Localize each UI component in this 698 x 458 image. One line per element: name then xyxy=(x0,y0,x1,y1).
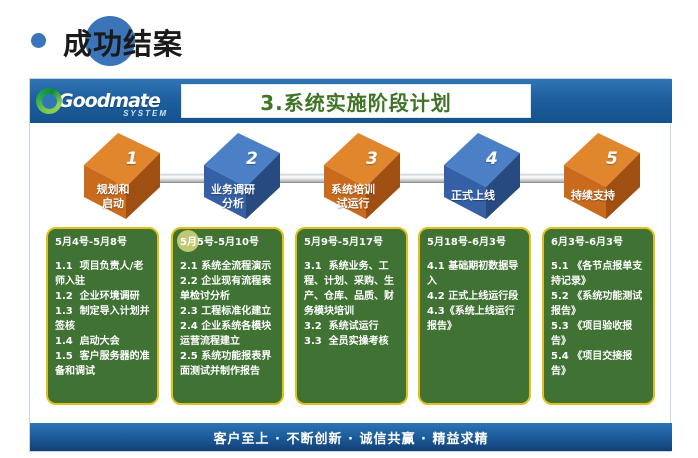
stage-label-line: 正式上线 xyxy=(436,189,510,203)
stage-detail-card[interactable]: 5月18号-6月3号4.1 基础期初数据导入 4.2 正式上线运行段 4.3《系… xyxy=(418,227,531,405)
header-title: 3.系统实施阶段计划 xyxy=(260,87,452,116)
logo-subtext: SYSTEM xyxy=(123,109,168,118)
stage-number: 2 xyxy=(246,149,258,169)
stage-cube-4[interactable]: 4正式上线 xyxy=(438,127,528,223)
stage-number: 5 xyxy=(606,149,618,169)
stage-label: 系统培训试运行 xyxy=(316,183,390,211)
stage-cube-1[interactable]: 1规划和启动 xyxy=(78,127,168,223)
title-bullet-dot xyxy=(31,33,46,48)
card-body-text: 3.1 系统业务、工程、计划、采购、生产、仓库、品质、财务模块培训 3.2 系统… xyxy=(304,259,400,349)
stage-label-line: 启动 xyxy=(76,197,150,211)
stage-label-line: 规划和 xyxy=(76,183,150,197)
card-body-text: 5.1 《各节点报单支持记录》 5.2 《系统功能测试报告》 5.3 《项目验收… xyxy=(551,259,647,379)
card-date: 5月5号-5月10号 xyxy=(180,236,276,250)
logo-swirl-inner xyxy=(42,94,57,109)
slide-header-bar: Goodmate SYSTEM 3.系统实施阶段计划 xyxy=(30,79,672,123)
stage-label-line: 分析 xyxy=(196,197,270,211)
stage-label-line: 试运行 xyxy=(316,197,390,211)
page-title: 成功结案 xyxy=(63,21,183,63)
stage-cube-3[interactable]: 3系统培训试运行 xyxy=(318,127,408,223)
stage-cube-5[interactable]: 5持续支持 xyxy=(558,127,648,223)
stage-diagram: 1规划和启动2业务调研分析3系统培训试运行4正式上线5持续支持 xyxy=(30,123,672,223)
card-date: 5月18号-6月3号 xyxy=(427,236,523,250)
goodmate-logo: Goodmate SYSTEM xyxy=(36,83,176,119)
stage-detail-cards: 5月4号-5月8号1.1 项目负责人/老师入驻 1.2 企业环境调研 1.3 制… xyxy=(30,227,672,407)
card-body-text: 4.1 基础期初数据导入 4.2 正式上线运行段 4.3《系统上线运行报告》 xyxy=(427,259,523,334)
cube-shape-icon xyxy=(438,127,528,223)
stage-cube-2[interactable]: 2业务调研分析 xyxy=(198,127,288,223)
slide-frame: Goodmate SYSTEM 3.系统实施阶段计划 1规划和启动2业务调研分析… xyxy=(29,78,671,452)
card-date: 5月4号-5月8号 xyxy=(55,236,151,250)
stage-label-line: 业务调研 xyxy=(196,183,270,197)
card-date: 6月3号-6月3号 xyxy=(551,236,647,250)
stage-label: 正式上线 xyxy=(436,189,510,203)
stage-detail-card[interactable]: 6月3号-6月3号5.1 《各节点报单支持记录》 5.2 《系统功能测试报告》 … xyxy=(542,227,655,405)
stage-label-line: 系统培训 xyxy=(316,183,390,197)
logo-swirl-icon xyxy=(36,88,62,114)
stage-detail-card[interactable]: 5月5号-5月10号2.1 系统全流程演示 2.2 企业现有流程表单检讨分析 2… xyxy=(171,227,284,405)
stage-label: 业务调研分析 xyxy=(196,183,270,211)
stage-label: 持续支持 xyxy=(556,189,630,203)
stage-detail-card[interactable]: 5月4号-5月8号1.1 项目负责人/老师入驻 1.2 企业环境调研 1.3 制… xyxy=(46,227,159,405)
stage-label-line: 持续支持 xyxy=(556,189,630,203)
footer-slogan: 客户至上 · 不断创新 · 诚信共赢 · 精益求精 xyxy=(214,428,489,447)
slide-footer-bar: 客户至上 · 不断创新 · 诚信共赢 · 精益求精 xyxy=(30,423,672,451)
card-body-text: 1.1 项目负责人/老师入驻 1.2 企业环境调研 1.3 制定导入计划并签核 … xyxy=(55,259,151,379)
stage-label: 规划和启动 xyxy=(76,183,150,211)
header-title-box: 3.系统实施阶段计划 xyxy=(181,84,531,118)
stage-number: 3 xyxy=(366,149,378,169)
card-body-text: 2.1 系统全流程演示 2.2 企业现有流程表单检讨分析 2.3 工程标准化建立… xyxy=(180,259,276,379)
stage-number: 1 xyxy=(126,149,138,169)
slide-title-area: 成功结案 xyxy=(0,0,698,72)
stage-number: 4 xyxy=(486,149,498,169)
cube-shape-icon xyxy=(558,127,648,223)
card-date: 5月9号-5月17号 xyxy=(304,236,400,250)
stage-detail-card[interactable]: 5月9号-5月17号3.1 系统业务、工程、计划、采购、生产、仓库、品质、财务模… xyxy=(295,227,408,405)
